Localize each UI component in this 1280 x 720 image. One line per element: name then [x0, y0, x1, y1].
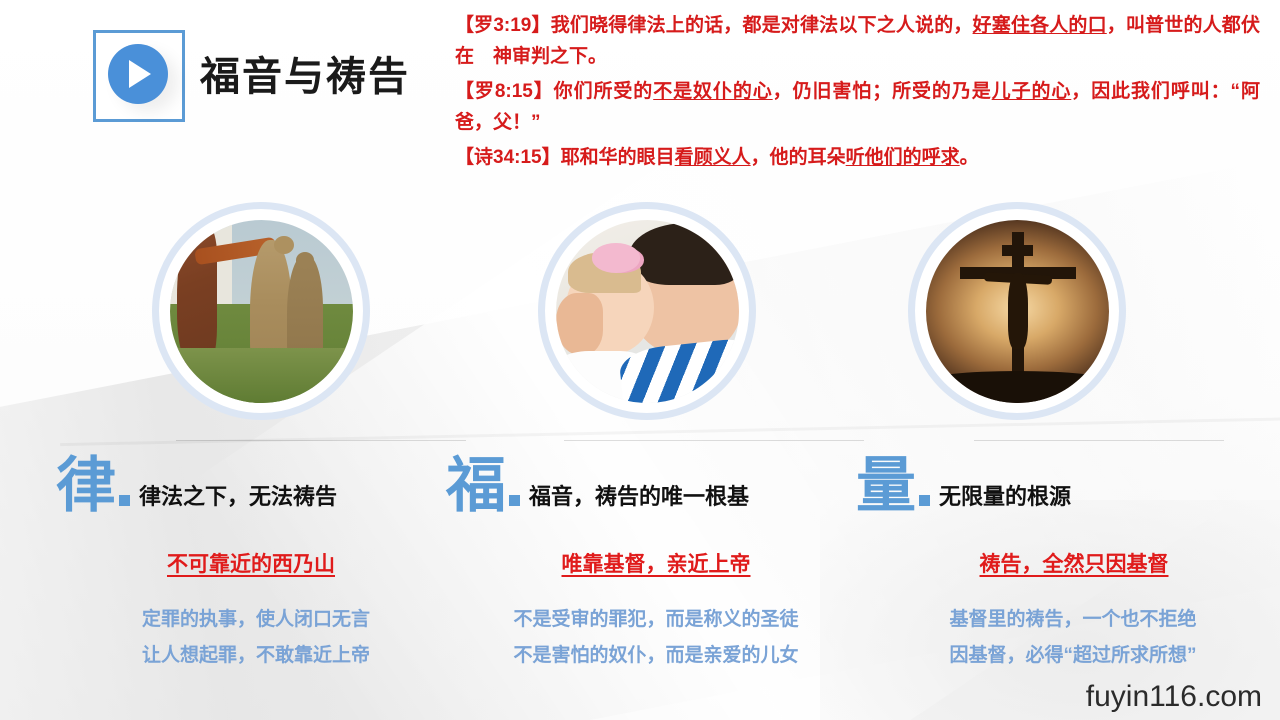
column-blueline: 不是受审的罪犯，而是称义的圣徒 — [446, 602, 866, 638]
scripture-text: 耶和华的眼目 — [561, 147, 675, 168]
scripture-verse: 【罗8:15】你们所受的不是奴仆的心，仍旧害怕；所受的乃是儿子的心，因此我们呼叫… — [455, 76, 1260, 138]
column-subhead-2: 福音，祷告的唯一根基 — [529, 484, 749, 514]
photo-ring-2 — [538, 202, 756, 420]
site-watermark: fuyin116.com — [1086, 680, 1262, 714]
square-bullet-icon — [919, 495, 930, 506]
column-redline-3: 祷告，全然只因基督 — [856, 548, 1276, 578]
content-column-2: 福 福音，祷告的唯一根基 唯靠基督，亲近上帝 不是受审的罪犯，而是称义的圣徒 不… — [446, 452, 866, 674]
scripture-emphasis: 儿子的心 — [992, 81, 1072, 102]
scripture-text: 你们所受的 — [554, 81, 654, 102]
scripture-verse: 【罗3:19】我们晓得律法上的话，都是对律法以下之人说的，好塞住各人的口，叫普世… — [455, 10, 1260, 72]
column-blueline: 定罪的执事，使人闭口无言 — [56, 602, 456, 638]
column-blueline: 不是害怕的奴仆，而是亲爱的儿女 — [446, 638, 866, 674]
column-big-char-3: 量 — [856, 458, 916, 514]
content-column-1: 律 律法之下，无法祷告 不可靠近的西乃山 定罪的执事，使人闭口无言 让人想起罪，… — [56, 452, 456, 674]
column-redline-2: 唯靠基督，亲近上帝 — [446, 548, 866, 578]
scripture-emphasis: 好塞住各人的口 — [973, 15, 1107, 36]
column-headrow-1: 律 律法之下，无法祷告 — [56, 452, 456, 514]
play-triangle-icon — [129, 60, 151, 88]
column-headrow-3: 量 无限量的根源 — [856, 452, 1276, 514]
column-subhead-1: 律法之下，无法祷告 — [139, 484, 337, 514]
slide-canvas: 福音与祷告 【罗3:19】我们晓得律法上的话，都是对律法以下之人说的，好塞住各人… — [0, 0, 1280, 720]
column-bluelines-2: 不是受审的罪犯，而是称义的圣徒 不是害怕的奴仆，而是亲爱的儿女 — [446, 602, 866, 674]
column-blueline: 让人想起罪，不敢靠近上帝 — [56, 638, 456, 674]
scripture-emphasis: 听他们的呼求 — [846, 147, 960, 168]
scripture-reference: 【罗8:15】 — [455, 81, 554, 102]
column-redline-1: 不可靠近的西乃山 — [56, 548, 456, 578]
crucifix-sunset-photo — [926, 220, 1109, 403]
photo-ring-3 — [908, 202, 1126, 420]
column-subhead-3: 无限量的根源 — [939, 484, 1071, 514]
column-rule-2 — [564, 440, 864, 441]
column-headrow-2: 福 福音，祷告的唯一根基 — [446, 452, 866, 514]
page-title: 福音与祷告 — [200, 44, 410, 102]
photo-ring-1 — [152, 202, 370, 420]
content-column-3: 量 无限量的根源 祷告，全然只因基督 基督里的祷告，一个也不拒绝 因基督，必得“… — [856, 452, 1276, 674]
scripture-text: 我们晓得律法上的话，都是对律法以下之人说的， — [551, 15, 973, 36]
father-and-baby-photo — [556, 220, 739, 403]
expulsion-from-paradise-photo — [170, 220, 353, 403]
scripture-text: ，他的耳朵 — [751, 147, 846, 168]
column-bluelines-1: 定罪的执事，使人闭口无言 让人想起罪，不敢靠近上帝 — [56, 602, 456, 674]
column-blueline: 因基督，必得“超过所求所想” — [870, 638, 1276, 674]
column-blueline: 基督里的祷告，一个也不拒绝 — [870, 602, 1276, 638]
scripture-block: 【罗3:19】我们晓得律法上的话，都是对律法以下之人说的，好塞住各人的口，叫普世… — [455, 10, 1260, 177]
scripture-reference: 【罗3:19】 — [455, 15, 551, 36]
column-rule-3 — [974, 440, 1224, 441]
scripture-emphasis: 看顾义人 — [675, 147, 751, 168]
scripture-text: ，仍旧害怕；所受的乃是 — [773, 81, 992, 102]
scripture-text: 。 — [960, 147, 979, 168]
column-big-char-2: 福 — [446, 458, 506, 514]
square-bullet-icon — [119, 495, 130, 506]
square-bullet-icon — [509, 495, 520, 506]
column-rule-1 — [176, 440, 466, 441]
scripture-verse: 【诗34:15】耶和华的眼目看顾义人，他的耳朵听他们的呼求。 — [455, 142, 1260, 173]
scripture-reference: 【诗34:15】 — [455, 147, 561, 168]
column-big-char-1: 律 — [56, 458, 116, 514]
scripture-emphasis: 不是奴仆的心 — [653, 81, 772, 102]
column-bluelines-3: 基督里的祷告，一个也不拒绝 因基督，必得“超过所求所想” — [856, 602, 1276, 674]
background-hairline — [60, 417, 1280, 446]
